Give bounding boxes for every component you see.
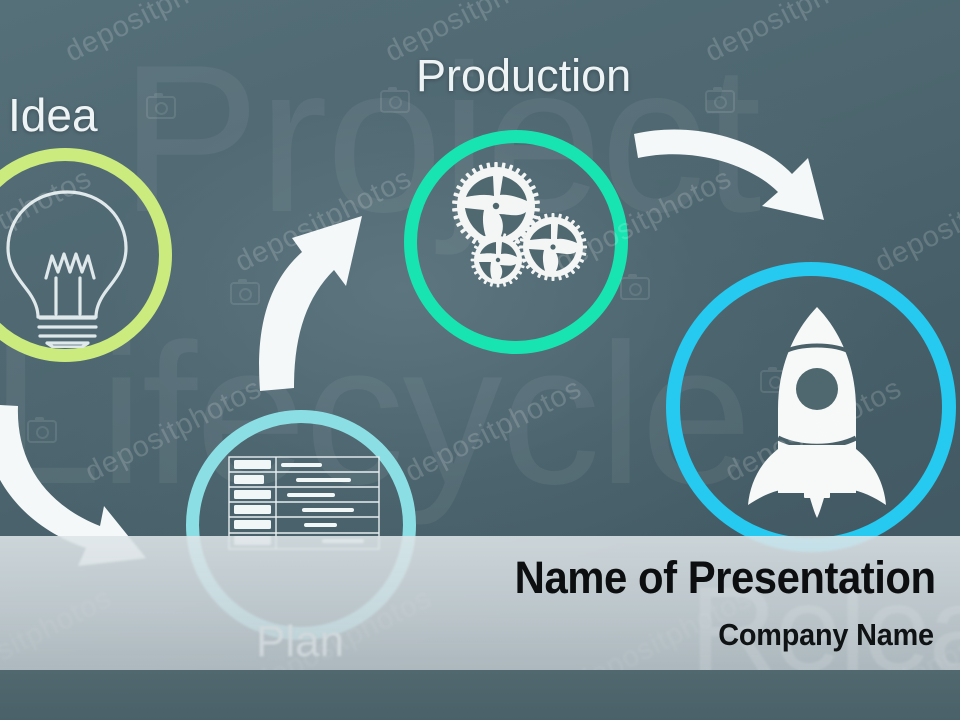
curved-arrow-right-down-icon <box>632 112 832 224</box>
camera-icon <box>146 96 176 119</box>
rocket-icon <box>742 305 892 520</box>
curved-arrow-up-right-icon <box>250 186 386 394</box>
stage-label-production: Production <box>416 50 631 102</box>
page-title[interactable]: Name of Presentation <box>515 552 936 604</box>
stage-label-idea: Idea <box>8 88 98 142</box>
camera-icon <box>620 277 650 300</box>
watermark-text: depositphotos <box>400 372 587 489</box>
lightbulb-icon <box>0 186 142 348</box>
watermark-text: depositphotos <box>60 0 247 69</box>
watermark-text: depositphotos <box>870 162 960 279</box>
gears-icon <box>444 160 594 290</box>
company-name[interactable]: Company Name <box>718 617 934 653</box>
footer-strip <box>0 670 960 720</box>
camera-icon <box>705 90 735 113</box>
camera-icon <box>380 90 410 113</box>
watermark-text: depositphotos <box>700 0 887 69</box>
presentation-slide: Project Lifecycle Release Idea <box>0 0 960 720</box>
